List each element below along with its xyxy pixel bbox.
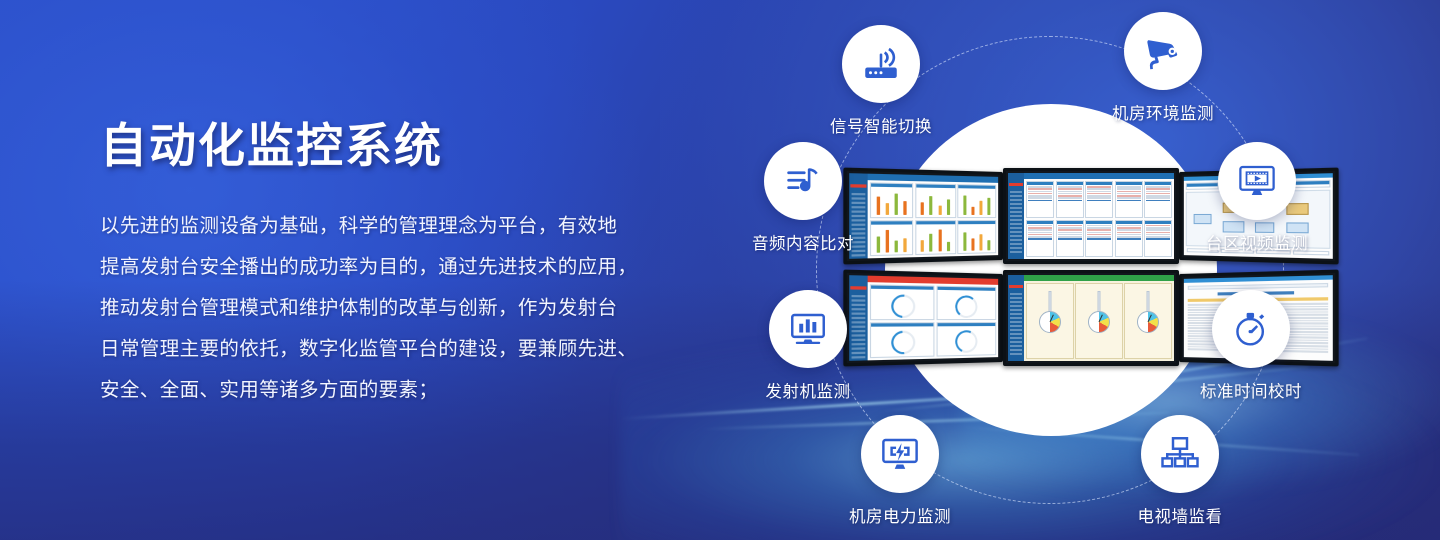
feature-node-area-video[interactable]: 台区视频监测 [1182,142,1332,254]
feature-label: 音频内容比对 [728,230,878,254]
screen-bottom-center [1003,270,1179,366]
description-line: 推动发射台管理模式和维护体制的改革与创新，作为发射台 [100,288,720,329]
feature-node-time-sync[interactable]: 标准时间校时 [1176,290,1326,402]
feature-node-transmitter[interactable]: 发射机监测 [733,290,883,402]
feature-node-signal-switch[interactable]: 信号智能切换 [806,25,956,137]
feature-icon-circle[interactable] [842,25,920,103]
description-line: 以先进的监测设备为基础，科学的管理理念为平台，有效地 [100,206,720,247]
feature-icon-circle[interactable] [764,142,842,220]
router-wifi-icon [860,43,902,85]
feature-label: 发射机监测 [733,378,883,402]
feature-node-room-power[interactable]: 机房电力监测 [825,415,975,527]
feature-label: 电视墙监看 [1105,503,1255,527]
feature-node-audio-compare[interactable]: 音频内容比对 [728,142,878,254]
feature-icon-circle[interactable] [1218,142,1296,220]
monitor-battery-bolt-icon [879,433,921,475]
description-line: 日常管理主要的依托，数字化监管平台的建设，要兼顾先进、 [100,329,720,370]
feature-diagram: 信号智能切换 机房环境监测 [720,0,1440,540]
banner-root: 自动化监控系统 以先进的监测设备为基础，科学的管理理念为平台，有效地 提高发射台… [0,0,1440,540]
page-title: 自动化监控系统 [100,120,720,172]
feature-node-room-environment[interactable]: 机房环境监测 [1088,12,1238,124]
screen-top-center [1003,168,1179,264]
monitor-video-icon [1236,160,1278,202]
hero-description: 以先进的监测设备为基础，科学的管理理念为平台，有效地 提高发射台安全播出的成功率… [100,206,720,411]
org-chart-icon [1159,433,1201,475]
stopwatch-icon [1230,308,1272,350]
monitor-barchart-icon [787,308,829,350]
description-line: 提高发射台安全播出的成功率为目的，通过先进技术的应用， [100,247,720,288]
feature-icon-circle[interactable] [1212,290,1290,368]
feature-label: 标准时间校时 [1176,378,1326,402]
feature-icon-circle[interactable] [861,415,939,493]
feature-icon-circle[interactable] [1141,415,1219,493]
feature-label: 信号智能切换 [806,113,956,137]
feature-icon-circle[interactable] [1124,12,1202,90]
music-note-lines-icon [782,160,824,202]
feature-label: 机房电力监测 [825,503,975,527]
cctv-camera-icon [1142,30,1184,72]
hero-text-block: 自动化监控系统 以先进的监测设备为基础，科学的管理理念为平台，有效地 提高发射台… [100,120,720,411]
feature-node-tv-wall[interactable]: 电视墙监看 [1105,415,1255,527]
description-line: 安全、全面、实用等诸多方面的要素； [100,370,720,411]
feature-label: 台区视频监测 [1182,230,1332,254]
feature-label: 机房环境监测 [1088,100,1238,124]
feature-icon-circle[interactable] [769,290,847,368]
